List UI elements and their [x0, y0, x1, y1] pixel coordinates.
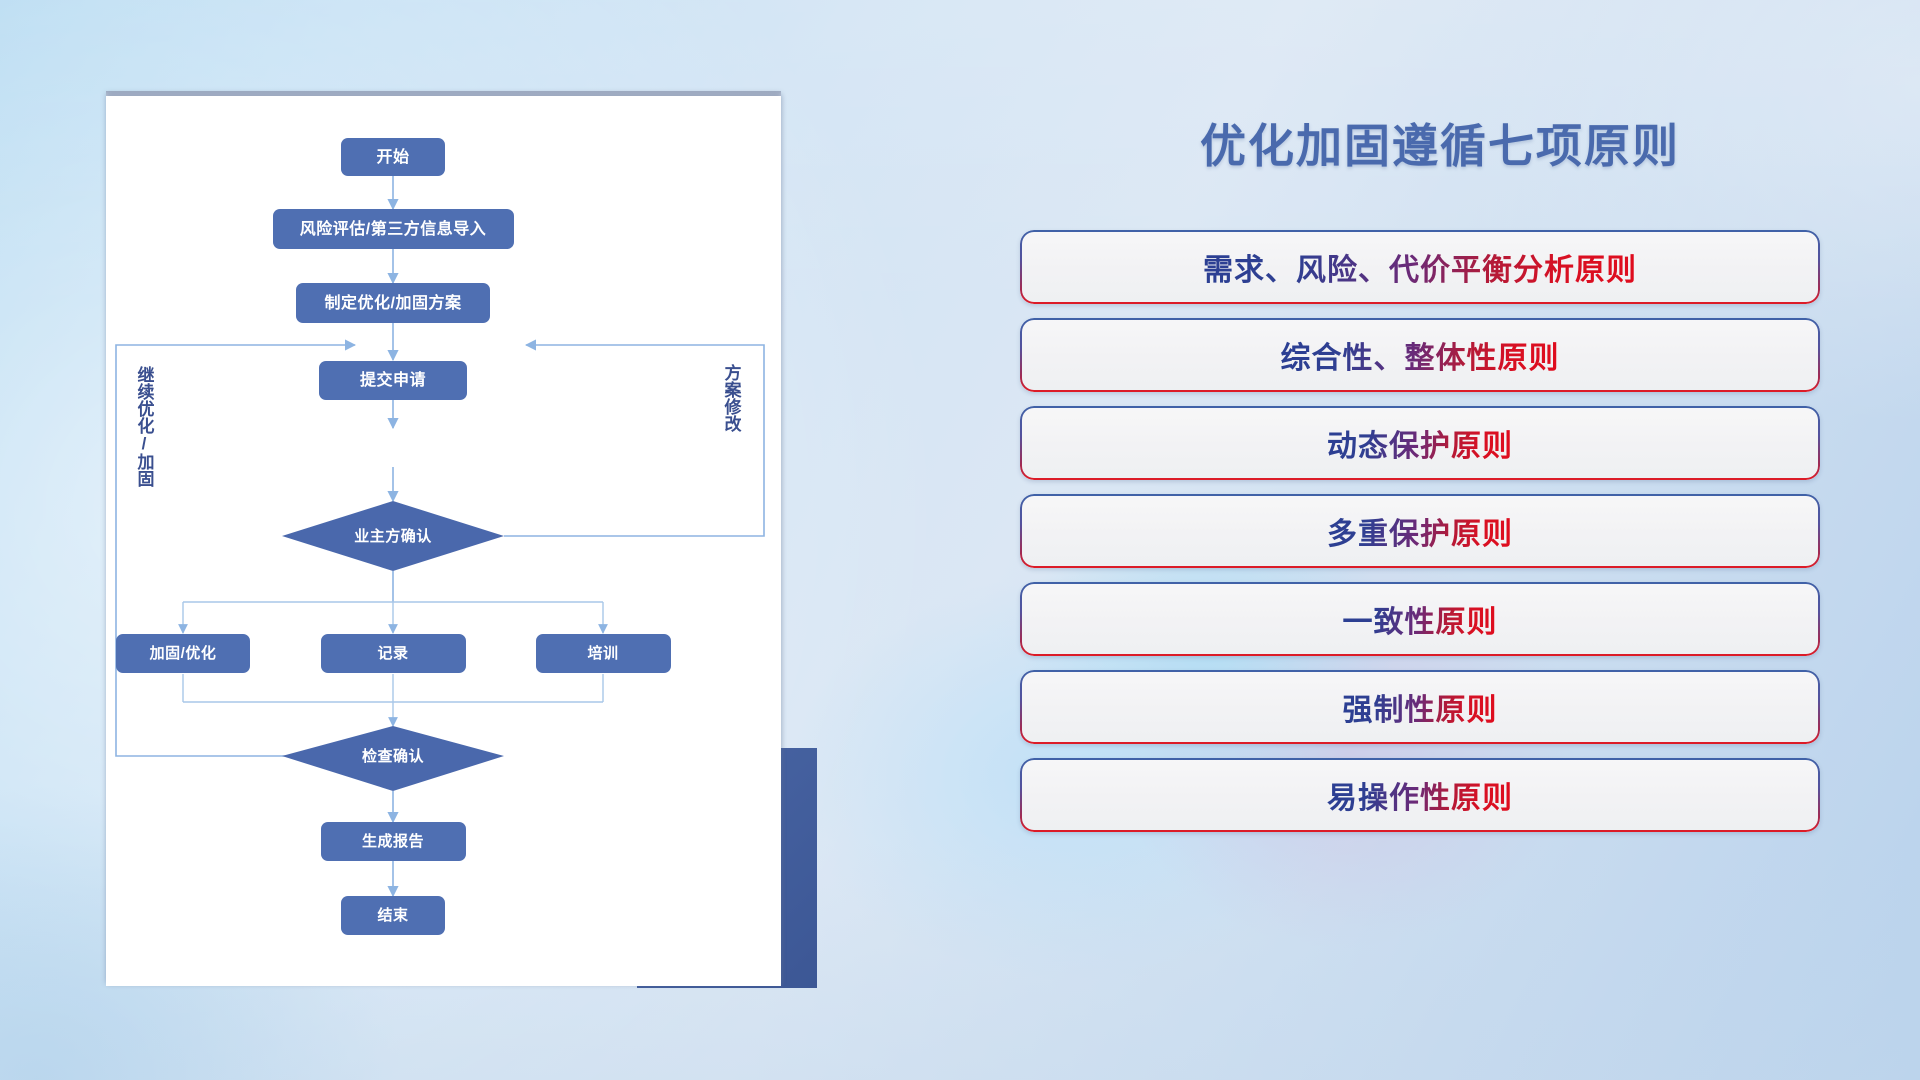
flow-node-owner-confirm[interactable]: 业主方确认 — [282, 501, 504, 571]
principle-item-4-label: 多重保护原则 — [1327, 509, 1513, 553]
principle-item-2-label: 综合性、整体性原则 — [1281, 333, 1560, 377]
flow-node-training[interactable]: 培训 — [536, 634, 671, 673]
flow-node-owner-confirm-label: 业主方确认 — [354, 527, 432, 545]
flow-node-risk-assessment-label: 风险评估/第三方信息导入 — [300, 219, 486, 238]
principle-item-7-label: 易操作性原则 — [1327, 773, 1513, 817]
flow-node-submit[interactable]: 提交申请 — [319, 361, 467, 400]
principle-item-1-label: 需求、风险、代价平衡分析原则 — [1203, 245, 1637, 289]
flow-node-end[interactable]: 结束 — [341, 896, 445, 935]
flow-node-record[interactable]: 记录 — [321, 634, 466, 673]
flow-node-end-label: 结束 — [377, 906, 409, 924]
flow-node-plan-label: 制定优化/加固方案 — [325, 293, 462, 312]
principle-item-5[interactable]: 一致性原则 — [1020, 582, 1820, 656]
panel-title: 优化加固遵循七项原则 — [1020, 110, 1860, 176]
principle-item-1[interactable]: 需求、风险、代价平衡分析原则 — [1020, 230, 1820, 304]
flow-node-reinforce[interactable]: 加固/优化 — [116, 634, 250, 673]
principle-item-6-label: 强制性原则 — [1343, 685, 1498, 729]
principle-item-5-label: 一致性原则 — [1343, 597, 1498, 641]
flow-node-report-label: 生成报告 — [362, 832, 424, 850]
flow-node-plan[interactable]: 制定优化/加固方案 — [296, 283, 490, 323]
principle-item-6[interactable]: 强制性原则 — [1020, 670, 1820, 744]
flow-node-submit-label: 提交申请 — [360, 370, 426, 389]
flow-node-start-label: 开始 — [376, 147, 409, 166]
flow-node-training-label: 培训 — [587, 644, 618, 662]
flow-node-check-confirm-label: 检查确认 — [362, 747, 425, 765]
flow-node-reinforce-label: 加固/优化 — [149, 644, 217, 662]
principle-item-3-label: 动态保护原则 — [1327, 421, 1513, 465]
flowchart-diagram: 开始 风险评估/第三方信息导入 制定优化/加固方案 提交申请 业主方确认 加固/… — [106, 96, 781, 986]
flowchart-pane: 开始 风险评估/第三方信息导入 制定优化/加固方案 提交申请 业主方确认 加固/… — [0, 0, 880, 1080]
flow-edge-label-right-loop: 方案修改 — [722, 363, 743, 433]
principle-item-2[interactable]: 综合性、整体性原则 — [1020, 318, 1820, 392]
flow-node-start[interactable]: 开始 — [341, 138, 445, 176]
principle-item-4[interactable]: 多重保护原则 — [1020, 494, 1820, 568]
flow-node-report[interactable]: 生成报告 — [321, 822, 466, 861]
principle-item-7[interactable]: 易操作性原则 — [1020, 758, 1820, 832]
flow-edge-label-left-loop: 继续优化/加固 — [135, 365, 156, 488]
principles-list: 需求、风险、代价平衡分析原则 综合性、整体性原则 动态保护原则 多重保护原则 一… — [1020, 230, 1820, 846]
flow-node-record-label: 记录 — [377, 645, 408, 662]
flow-node-check-confirm[interactable]: 检查确认 — [282, 726, 504, 791]
principle-item-3[interactable]: 动态保护原则 — [1020, 406, 1820, 480]
principles-pane: 优化加固遵循七项原则 需求、风险、代价平衡分析原则 综合性、整体性原则 动态保护… — [1020, 0, 1920, 1080]
flow-node-risk-assessment[interactable]: 风险评估/第三方信息导入 — [273, 209, 514, 249]
